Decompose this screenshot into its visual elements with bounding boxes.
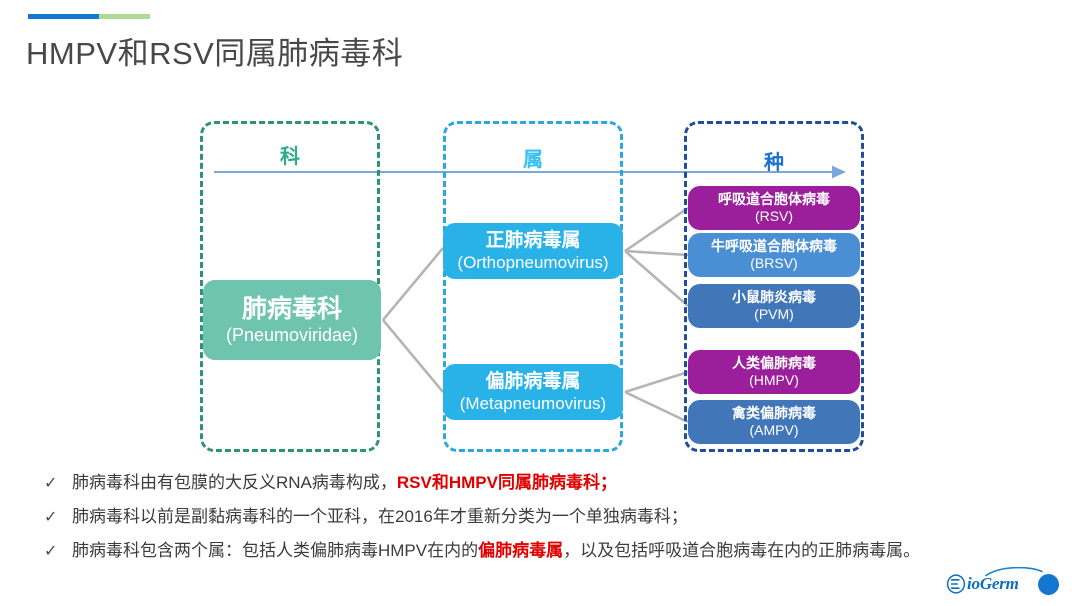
accent-bar [28, 14, 150, 19]
accent-bar-blue-segment [28, 14, 99, 19]
node-species-pvm-cn-label: 小鼠肺炎病毒 [732, 290, 816, 306]
node-species-hmpv-cn-label: 人类偏肺病毒 [732, 356, 816, 372]
node-family-pneumoviridae[interactable]: 肺病毒科 (Pneumoviridae) [203, 280, 381, 360]
connector-meta-to-species [625, 372, 688, 422]
node-species-pvm[interactable]: 小鼠肺炎病毒 (PVM) [688, 284, 860, 328]
bullet-3-part-2-highlight: 偏肺病毒属 [478, 541, 563, 560]
node-species-pvm-en-label: (PVM) [754, 307, 794, 323]
bullet-item-1-text: 肺病毒科由有包膜的大反义RNA病毒构成，RSV和HMPV同属肺病毒科； [72, 468, 617, 493]
node-genus-ortho-en-label: (Orthopneumovirus) [457, 253, 608, 272]
node-species-brsv-en-label: (BRSV) [750, 256, 797, 272]
bullet-1-part-1: 肺病毒科由有包膜的大反义RNA病毒构成， [72, 473, 397, 492]
node-genus-meta-cn-label: 偏肺病毒属 [485, 371, 580, 392]
node-family-en-label: (Pneumoviridae) [226, 325, 358, 345]
page-title: HMPV和RSV同属肺病毒科 [26, 28, 403, 73]
company-logo: ioGerm [946, 570, 1019, 598]
connector-ortho-to-species [625, 208, 688, 306]
node-genus-orthopneumovirus[interactable]: 正肺病毒属 (Orthopneumovirus) [443, 223, 623, 279]
bullet-item-2: ✓ 肺病毒科以前是副黏病毒科的一个亚科，在2016年才重新分类为一个单独病毒科； [44, 502, 1054, 527]
rank-label-species: 种 [724, 146, 824, 175]
node-species-brsv[interactable]: 牛呼吸道合胞体病毒 (BRSV) [688, 233, 860, 277]
rank-label-genus: 属 [483, 143, 583, 172]
node-genus-ortho-cn-label: 正肺病毒属 [485, 230, 580, 251]
bullet-3-part-3: ，以及包括呼吸道合胞病毒在内的正肺病毒属。 [563, 541, 920, 560]
check-icon: ✓ [44, 507, 72, 527]
logo-wordmark: ioGerm [967, 574, 1019, 594]
footer-decorative-dot [1038, 574, 1059, 595]
node-species-rsv[interactable]: 呼吸道合胞体病毒 (RSV) [688, 186, 860, 230]
accent-bar-green-segment [99, 14, 150, 19]
logo-swoosh-icon [985, 567, 1043, 577]
bullet-1-part-2-highlight: RSV和HMPV同属肺病毒科； [397, 473, 617, 492]
bullet-item-3: ✓ 肺病毒科包含两个属：包括人类偏肺病毒HMPV在内的偏肺病毒属，以及包括呼吸道… [44, 536, 1054, 561]
bullet-list: ✓ 肺病毒科由有包膜的大反义RNA病毒构成，RSV和HMPV同属肺病毒科； ✓ … [44, 468, 1054, 570]
bullet-item-1: ✓ 肺病毒科由有包膜的大反义RNA病毒构成，RSV和HMPV同属肺病毒科； [44, 468, 1054, 493]
bullet-item-2-text: 肺病毒科以前是副黏病毒科的一个亚科，在2016年才重新分类为一个单独病毒科； [72, 502, 688, 527]
node-genus-metapneumovirus[interactable]: 偏肺病毒属 (Metapneumovirus) [443, 364, 623, 420]
node-species-rsv-en-label: (RSV) [755, 209, 793, 225]
check-icon: ✓ [44, 473, 72, 493]
node-genus-meta-en-label: (Metapneumovirus) [460, 394, 606, 413]
bullet-3-part-1: 肺病毒科包含两个属：包括人类偏肺病毒HMPV在内的 [72, 541, 478, 560]
node-family-cn-label: 肺病毒科 [242, 295, 342, 323]
biogerm-b-mark-icon [946, 574, 966, 594]
connector-family-to-genera [383, 248, 443, 392]
node-species-ampv[interactable]: 禽类偏肺病毒 (AMPV) [688, 400, 860, 444]
rank-label-family: 科 [240, 140, 340, 169]
bullet-item-3-text: 肺病毒科包含两个属：包括人类偏肺病毒HMPV在内的偏肺病毒属，以及包括呼吸道合胞… [72, 536, 920, 561]
node-species-hmpv[interactable]: 人类偏肺病毒 (HMPV) [688, 350, 860, 394]
bullet-2-part-1: 肺病毒科以前是副黏病毒科的一个亚科，在2016年才重新分类为一个单独病毒科； [72, 507, 688, 526]
check-icon: ✓ [44, 541, 72, 561]
node-species-brsv-cn-label: 牛呼吸道合胞体病毒 [711, 239, 837, 255]
node-species-ampv-en-label: (AMPV) [750, 423, 799, 439]
node-species-hmpv-en-label: (HMPV) [749, 373, 799, 389]
node-species-rsv-cn-label: 呼吸道合胞体病毒 [718, 192, 830, 208]
node-species-ampv-cn-label: 禽类偏肺病毒 [732, 406, 816, 422]
